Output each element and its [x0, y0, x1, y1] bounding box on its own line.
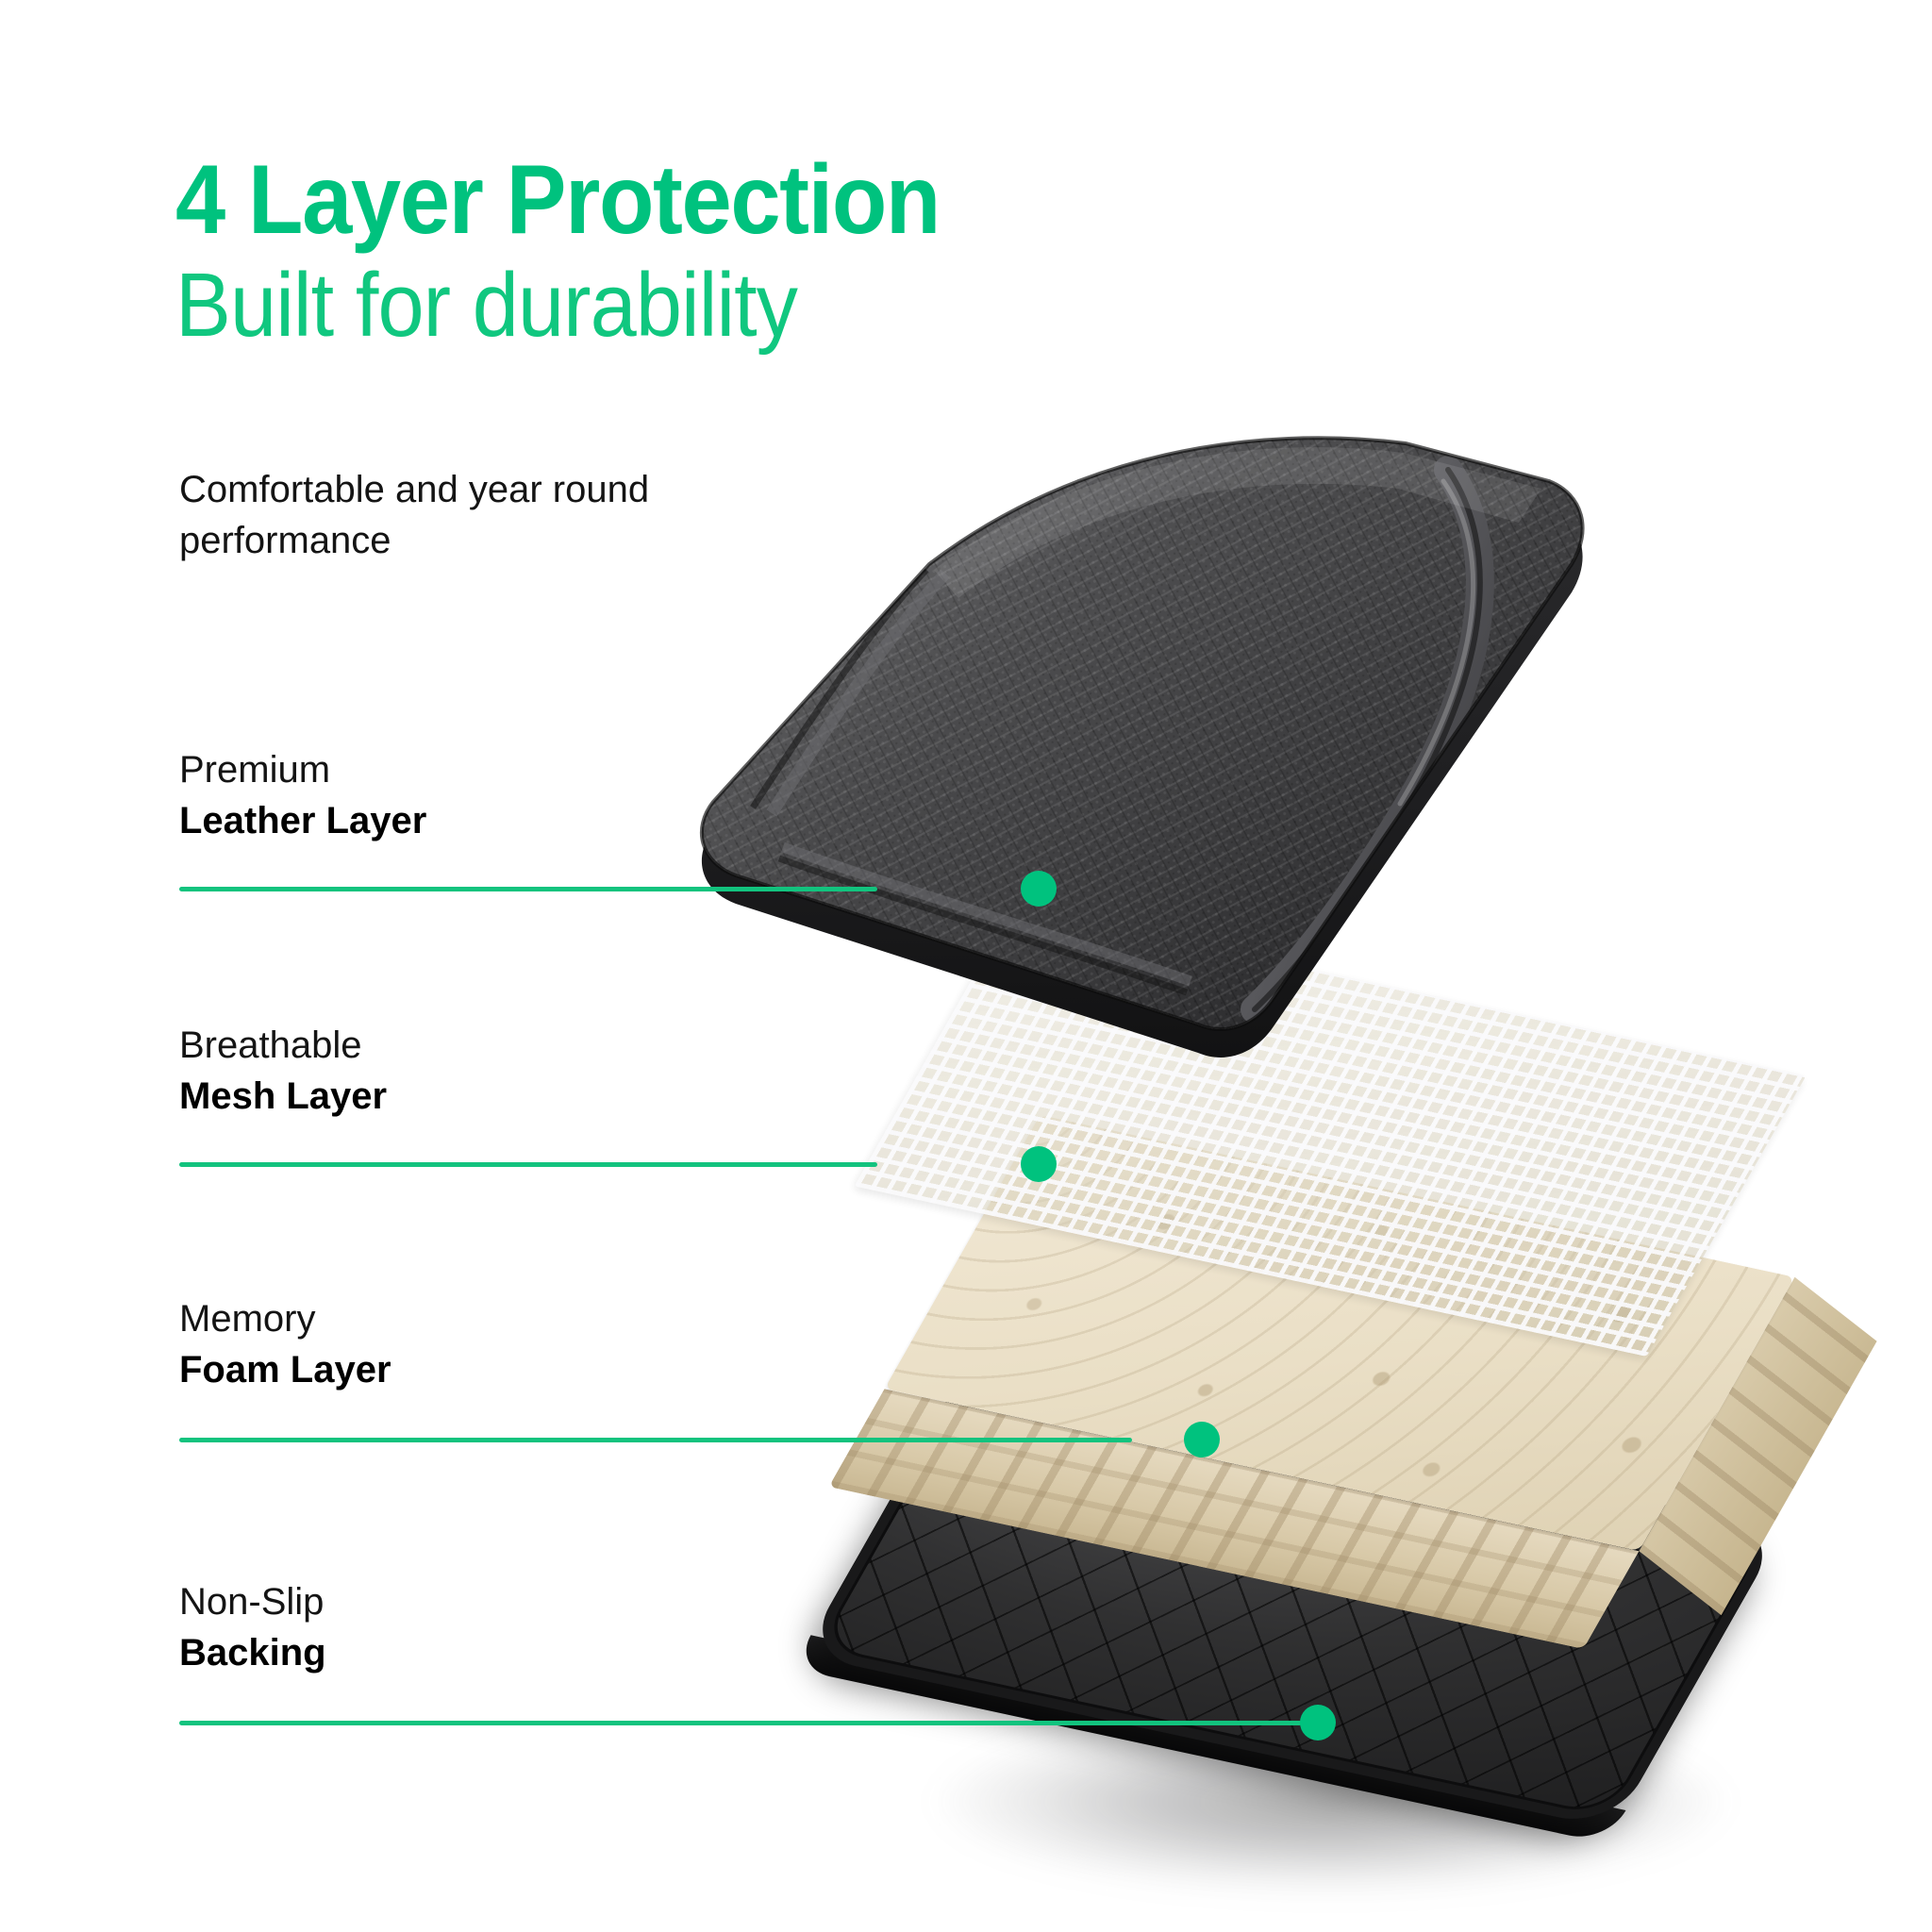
leader-line-mesh — [179, 1162, 877, 1167]
leader-dot-backing — [1300, 1705, 1336, 1740]
callout-qualifier: Non-Slip — [179, 1577, 1358, 1626]
leader-line-backing — [179, 1721, 1302, 1725]
headline-block: 4 Layer Protection Built for durability — [175, 151, 1213, 354]
callout-qualifier: Premium — [179, 745, 1358, 794]
page-subtitle: Built for durability — [175, 258, 1130, 354]
callout-backing[interactable]: Non-Slip Backing — [179, 1577, 1358, 1677]
callout-mesh[interactable]: Breathable Mesh Layer — [179, 1021, 1358, 1121]
leader-dot-mesh — [1021, 1146, 1057, 1182]
callout-name: Mesh Layer — [179, 1072, 1358, 1121]
infographic-canvas: 4 Layer Protection Built for durability … — [0, 0, 1932, 1932]
leader-line-foam — [179, 1438, 1132, 1442]
callout-foam[interactable]: Memory Foam Layer — [179, 1294, 1358, 1394]
callout-name: Backing — [179, 1628, 1358, 1677]
callout-leather[interactable]: Premium Leather Layer — [179, 745, 1358, 845]
product-illustration — [651, 472, 1932, 1932]
leather-shape — [594, 432, 1632, 1055]
callout-qualifier: Memory — [179, 1294, 1358, 1343]
product-layer-leather — [594, 432, 1632, 1055]
leader-line-leather — [179, 887, 877, 891]
callout-name: Leather Layer — [179, 796, 1358, 845]
leader-dot-leather — [1021, 871, 1057, 907]
leader-dot-foam — [1184, 1422, 1220, 1457]
page-title: 4 Layer Protection — [175, 151, 1130, 249]
callout-name: Foam Layer — [179, 1345, 1358, 1394]
callout-qualifier: Breathable — [179, 1021, 1358, 1070]
